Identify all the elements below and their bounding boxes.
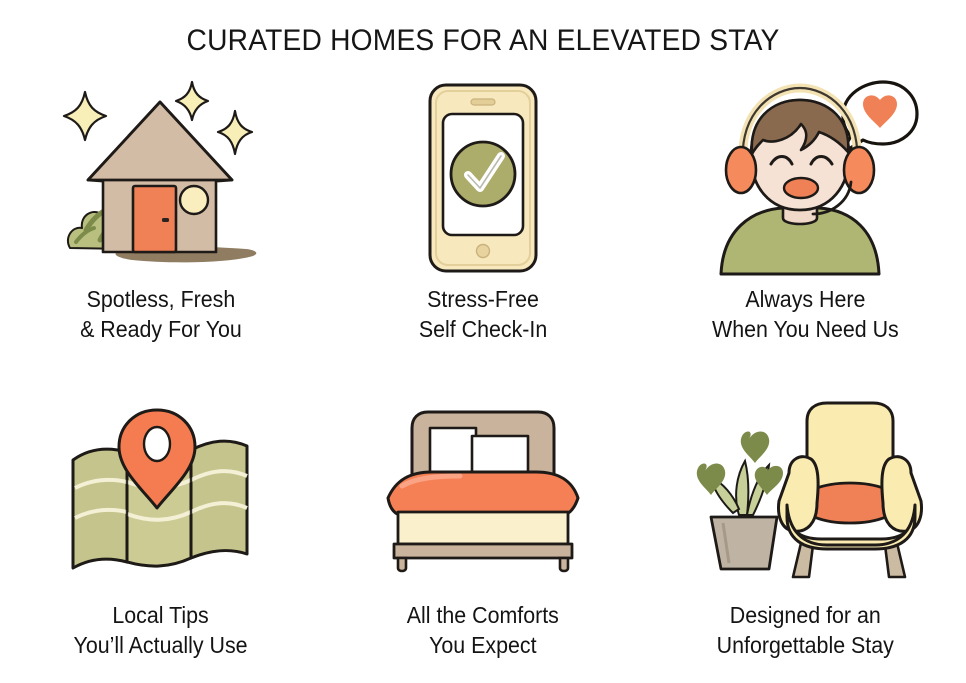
sparkling-house-icon: [46, 78, 276, 278]
feature-caption-always-here: Always Here When You Need Us: [712, 284, 899, 345]
headset-support-agent-icon: [690, 78, 920, 278]
caption-line: Designed for an: [716, 600, 893, 630]
feature-caption-designed-for-stay: Designed for an Unforgettable Stay: [716, 600, 893, 661]
feature-card-all-comforts: All the Comforts You Expect: [322, 372, 644, 672]
feature-caption-all-comforts: All the Comforts You Expect: [407, 600, 559, 661]
armchair-plant-icon: [690, 390, 920, 590]
caption-line: You’ll Actually Use: [74, 630, 248, 660]
poster-canvas: CURATED HOMES FOR AN ELEVATED STAY: [0, 0, 966, 683]
feature-card-designed-for-stay: Designed for an Unforgettable Stay: [644, 372, 966, 672]
feature-card-local-tips: Local Tips You’ll Actually Use: [0, 372, 322, 672]
bed-pillows-icon: [368, 390, 598, 590]
caption-line: Stress-Free: [419, 284, 547, 314]
feature-card-always-here: Always Here When You Need Us: [644, 72, 966, 372]
caption-line: When You Need Us: [712, 314, 899, 344]
caption-line: & Ready For You: [80, 314, 242, 344]
feature-caption-spotless-ready: Spotless, Fresh & Ready For You: [80, 284, 242, 345]
phone-checkmark-icon: [368, 78, 598, 278]
feature-grid: Spotless, Fresh & Ready For You: [0, 72, 966, 672]
page-title: CURATED HOMES FOR AN ELEVATED STAY: [29, 24, 937, 58]
feature-card-spotless-ready: Spotless, Fresh & Ready For You: [0, 72, 322, 372]
caption-line: Always Here: [712, 284, 899, 314]
caption-line: Unforgettable Stay: [716, 630, 893, 660]
potted-plant: [697, 432, 783, 570]
caption-line: Self Check-In: [419, 314, 547, 344]
feature-card-self-check-in: Stress-Free Self Check-In: [322, 72, 644, 372]
feature-caption-self-check-in: Stress-Free Self Check-In: [419, 284, 547, 345]
caption-line: You Expect: [407, 630, 559, 660]
caption-line: Local Tips: [74, 600, 248, 630]
folded-map-pin-icon: [46, 390, 276, 590]
feature-caption-local-tips: Local Tips You’ll Actually Use: [74, 600, 248, 661]
caption-line: All the Comforts: [407, 600, 559, 630]
caption-line: Spotless, Fresh: [80, 284, 242, 314]
